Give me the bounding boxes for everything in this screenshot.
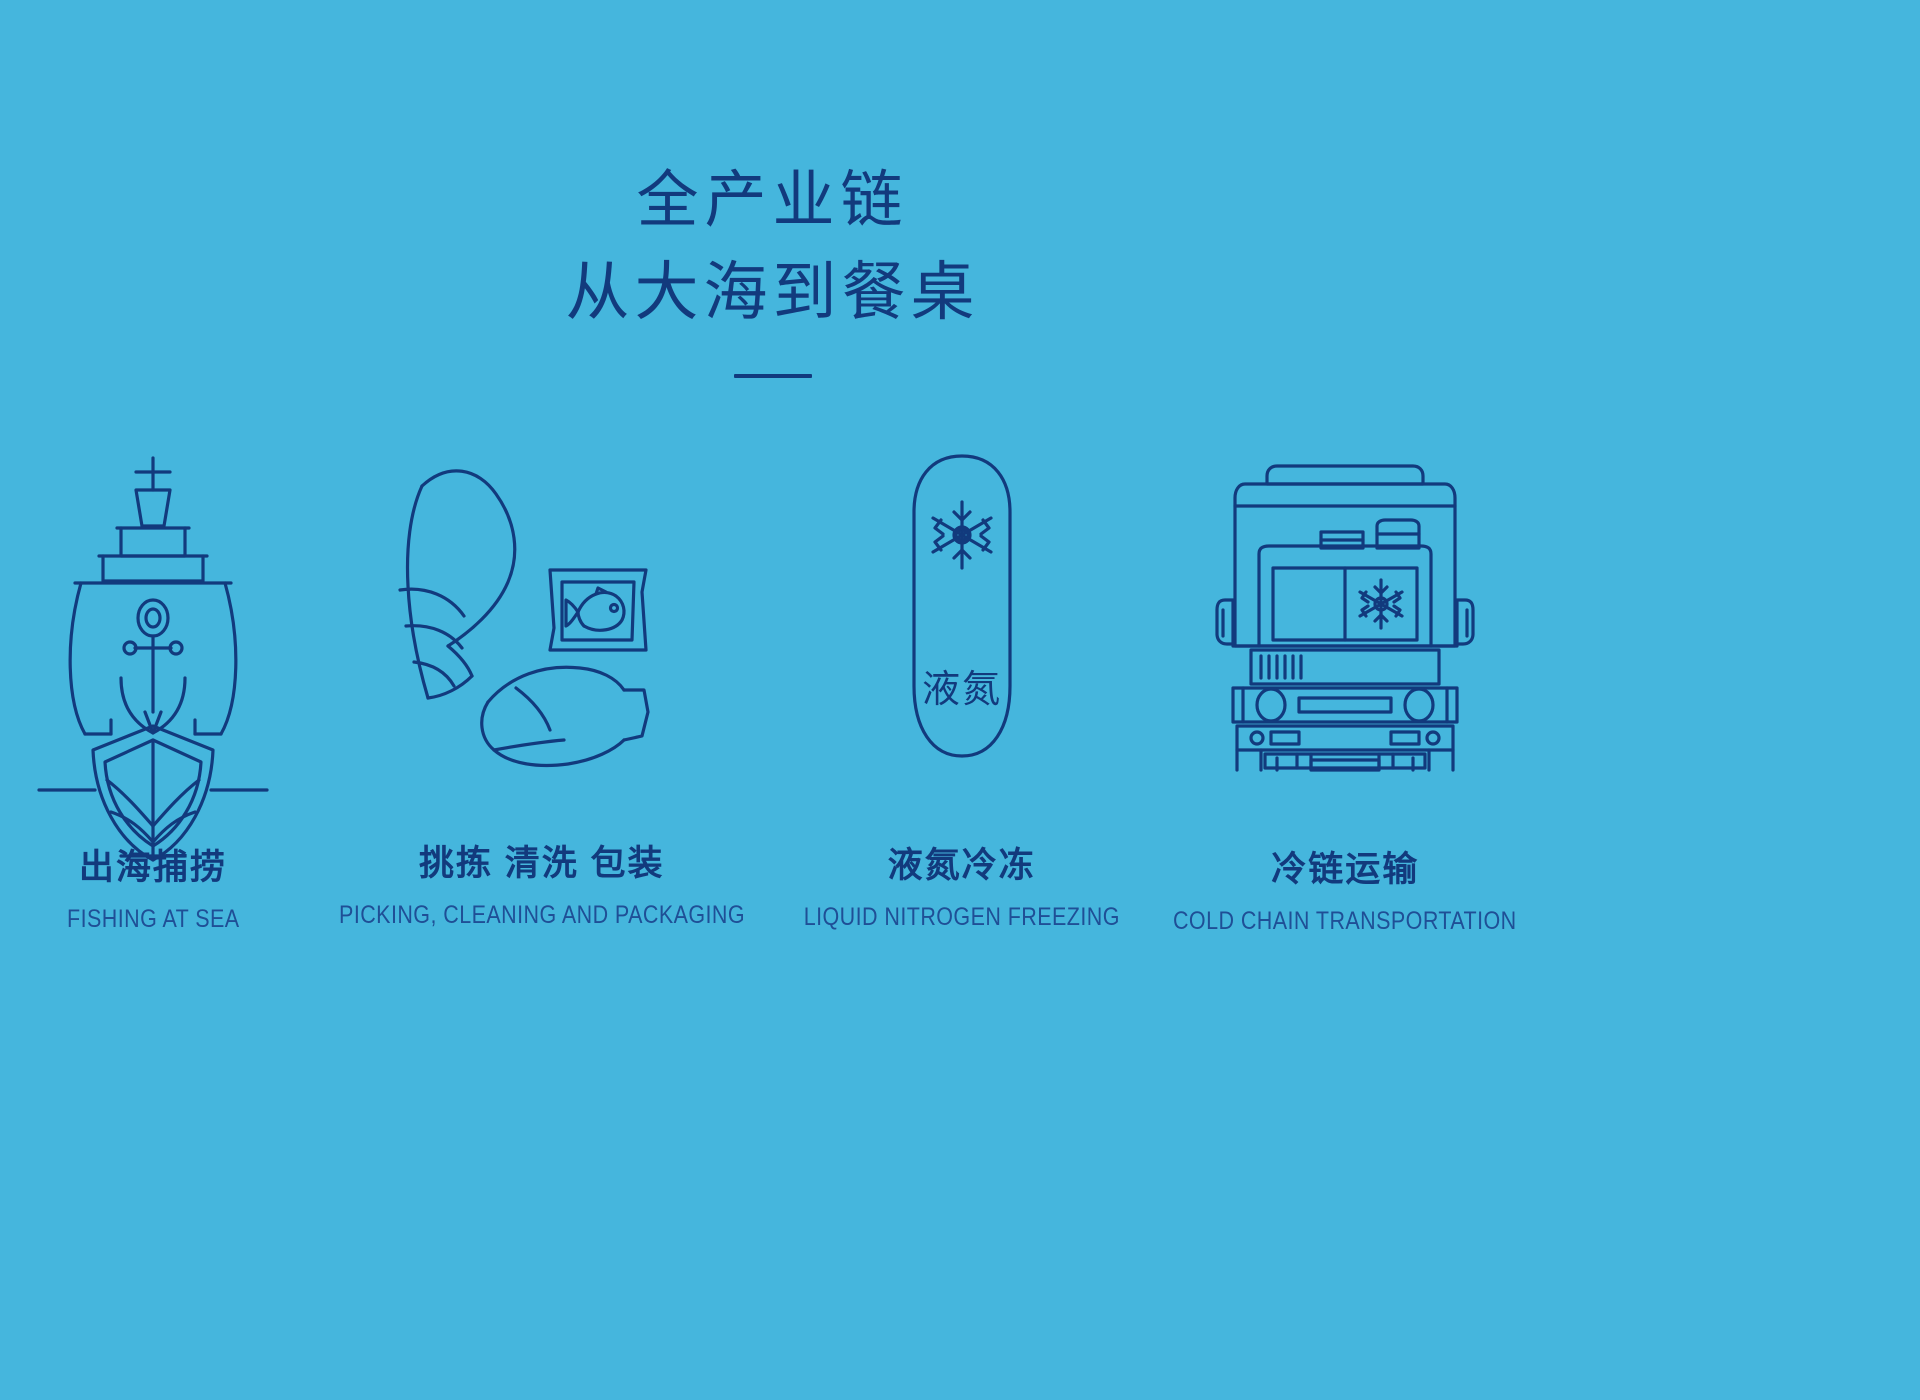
step-caption: 冷链运输 COLD CHAIN TRANSPORTATION [1145, 848, 1545, 938]
title-divider-wrap [0, 365, 1545, 385]
step-caption: 液氮冷冻 LIQUID NITROGEN FREEZING [778, 844, 1146, 934]
step-label-cn: 出海捕捞 [53, 846, 254, 890]
step-label-cn: 冷链运输 [1145, 848, 1545, 892]
page-header: 全产业链 从大海到餐桌 [0, 155, 1545, 385]
step-label-en: LIQUID NITROGEN FREEZING [804, 900, 1120, 934]
step-label-cn: 液氮冷冻 [778, 844, 1146, 888]
step-item-picking-cleaning-packaging: 挑拣 清洗 包装 PICKING, CLEANING AND PACKAGING [306, 440, 778, 932]
page-canvas: 全产业链 从大海到餐桌 [0, 0, 1920, 1400]
liquid-nitrogen-tank-snowflake-icon: 液氮 [892, 440, 1032, 772]
step-item-cold-chain-transportation: 冷链运输 COLD CHAIN TRANSPORTATION [1145, 440, 1545, 938]
step-item-fishing-at-sea: 出海捕捞 FISHING AT SEA [0, 440, 306, 936]
hands-holding-packaged-fish-icon [392, 440, 692, 770]
process-steps-row: 出海捕捞 FISHING AT SEA [0, 440, 1545, 938]
page-title-line-1: 全产业链 [0, 155, 1545, 247]
step-label-cn: 挑拣 清洗 包装 [306, 842, 778, 886]
step-label-en: PICKING, CLEANING AND PACKAGING [339, 898, 745, 932]
step-label-en: COLD CHAIN TRANSPORTATION [1173, 904, 1517, 938]
step-label-en: FISHING AT SEA [67, 902, 239, 936]
title-divider [734, 374, 812, 378]
tank-label-text: 液氮 [922, 669, 1002, 711]
page-title-line-2: 从大海到餐桌 [0, 247, 1545, 339]
step-caption: 挑拣 清洗 包装 PICKING, CLEANING AND PACKAGING [306, 842, 778, 932]
fishing-boat-anchor-icon [33, 440, 273, 774]
step-item-liquid-nitrogen-freezing: 液氮 液氮冷冻 LIQUID NITROGEN FREEZING [778, 440, 1146, 934]
refrigerated-truck-icon [1215, 440, 1475, 776]
step-caption: 出海捕捞 FISHING AT SEA [53, 846, 254, 936]
